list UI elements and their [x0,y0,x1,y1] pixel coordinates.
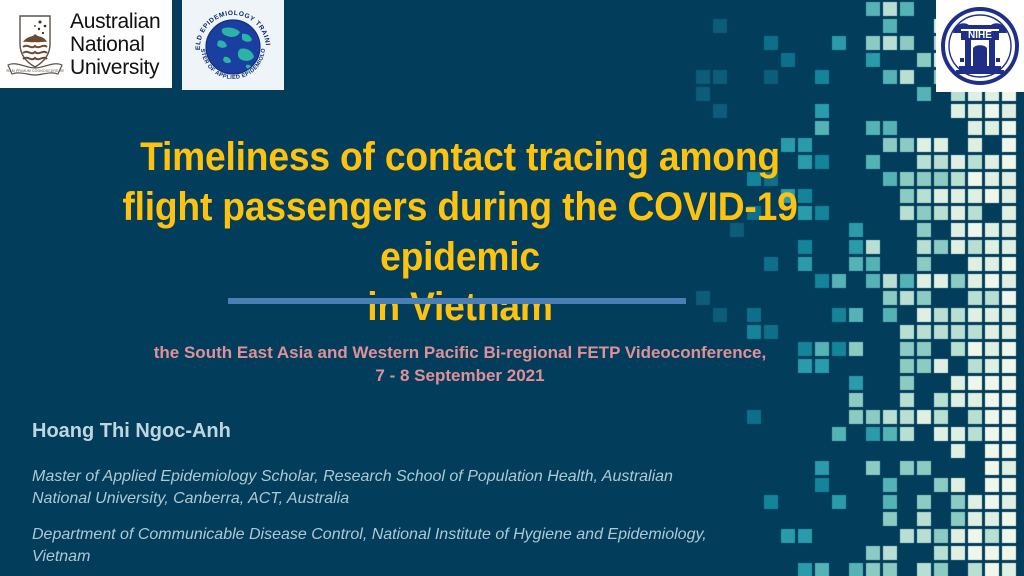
nihe-logo: NIHE [936,0,1024,92]
anu-wordmark-line2: National [70,33,160,56]
anu-crest-icon: NATURAM PRIMUM COGNOSCERE RERUM [6,8,64,80]
conference-name: the South East Asia and Western Pacific … [20,341,900,364]
presenter-affiliation-1: Master of Applied Epidemiology Scholar, … [32,466,722,510]
field-epidemiology-training-logo: FIELD EPIDEMIOLOGY TRAINING MASTER OF AP… [182,0,284,90]
presenter-affiliation-2: Department of Communicable Disease Contr… [32,524,722,568]
nihe-building-icon: NIHE [939,3,1021,89]
svg-text:NATURAM PRIMUM COGNOSCERE RERU: NATURAM PRIMUM COGNOSCERE RERUM [6,69,64,73]
presenter-info: Hoang Thi Ngoc-Anh Master of Applied Epi… [32,418,722,576]
anu-wordmark: Australian National University [70,10,160,79]
fetp-globe-icon: FIELD EPIDEMIOLOGY TRAINING MASTER OF AP… [188,1,278,89]
title-divider [228,298,686,304]
anu-wordmark-line3: University [70,56,160,79]
presenter-name: Hoang Thi Ngoc-Anh [32,418,722,444]
conference-date: 7 - 8 September 2021 [20,364,900,387]
australian-national-university-logo: NATURAM PRIMUM COGNOSCERE RERUM Australi… [0,0,172,88]
presentation-slide: NATURAM PRIMUM COGNOSCERE RERUM Australi… [0,0,1024,576]
conference-info: the South East Asia and Western Pacific … [20,341,900,387]
nihe-label: NIHE [968,30,992,41]
anu-wordmark-line1: Australian [70,10,160,33]
